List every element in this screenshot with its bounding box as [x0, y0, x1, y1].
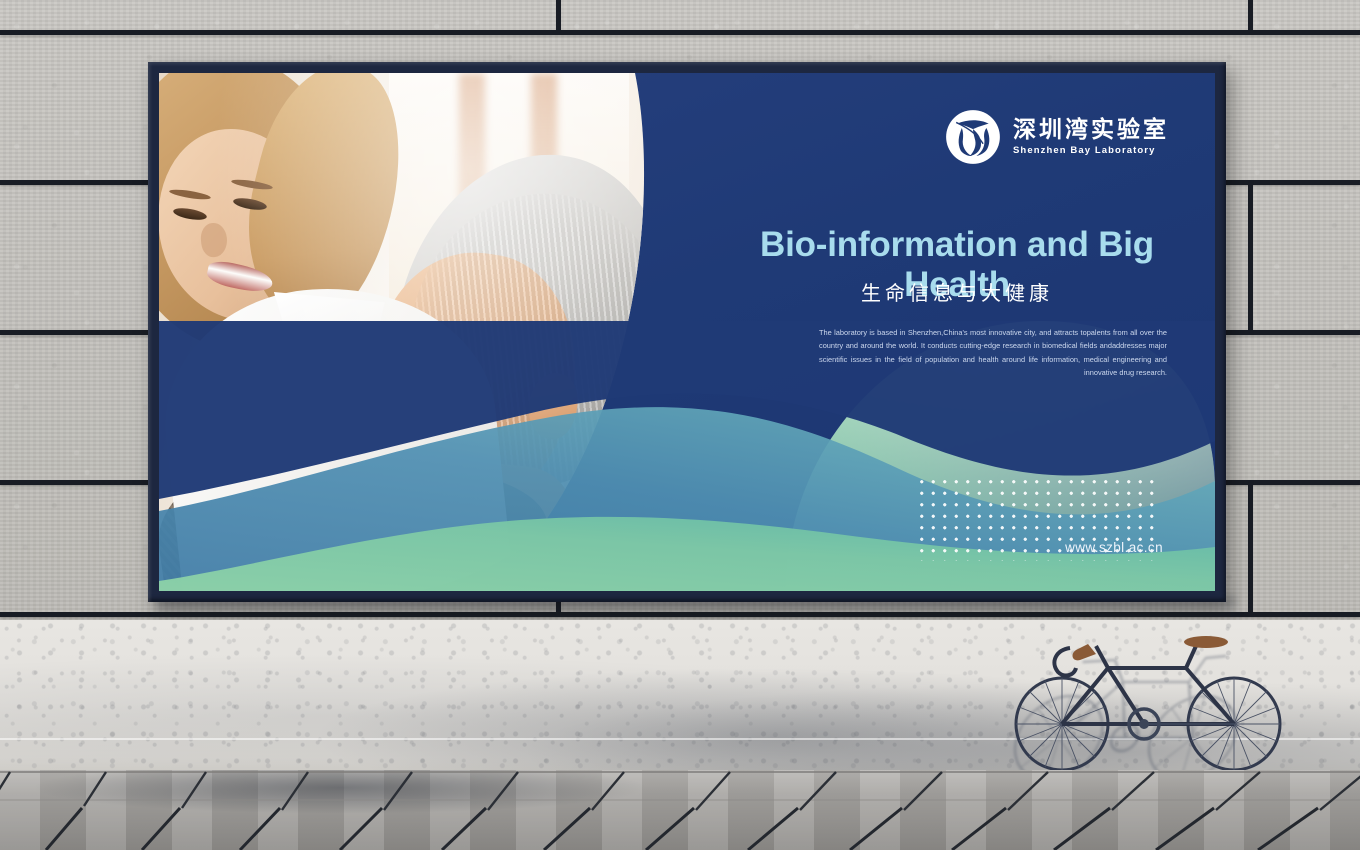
pavement — [0, 770, 1360, 850]
bicycle-handlebar — [1054, 648, 1076, 675]
billboard-scene: 深圳湾实验室 Shenzhen Bay Laboratory Bio-infor… — [0, 0, 1360, 850]
bicycle — [1010, 628, 1300, 778]
poster-canvas: 深圳湾实验室 Shenzhen Bay Laboratory Bio-infor… — [159, 73, 1215, 591]
billboard-frame[interactable]: 深圳湾实验室 Shenzhen Bay Laboratory Bio-infor… — [148, 62, 1226, 602]
poster-body-text: The laboratory is based in Shenzhen,Chin… — [819, 326, 1167, 380]
pavement-joints — [0, 770, 1360, 850]
wall-seam-vertical — [1248, 0, 1253, 30]
bicycle-saddle — [1184, 636, 1228, 648]
wall-seam-vertical — [556, 0, 561, 30]
wall-seam-vertical — [1248, 480, 1253, 612]
wall-seam-vertical — [1248, 180, 1253, 330]
logo-name-cn: 深圳湾实验室 — [1013, 119, 1169, 142]
wall-seam-line — [0, 30, 1360, 35]
logo-lockup[interactable]: 深圳湾实验室 Shenzhen Bay Laboratory — [945, 109, 1169, 165]
bicycle-handlebar-grip — [1073, 644, 1096, 660]
poster-website-url[interactable]: www.szbl.ac.cn — [1065, 540, 1163, 555]
logo-name-en: Shenzhen Bay Laboratory — [1013, 146, 1169, 156]
logo-text: 深圳湾实验室 Shenzhen Bay Laboratory — [1013, 119, 1169, 156]
shenzhen-bay-laboratory-mark — [945, 109, 1001, 165]
poster-subtitle: 生命信息与大健康 — [717, 277, 1197, 306]
